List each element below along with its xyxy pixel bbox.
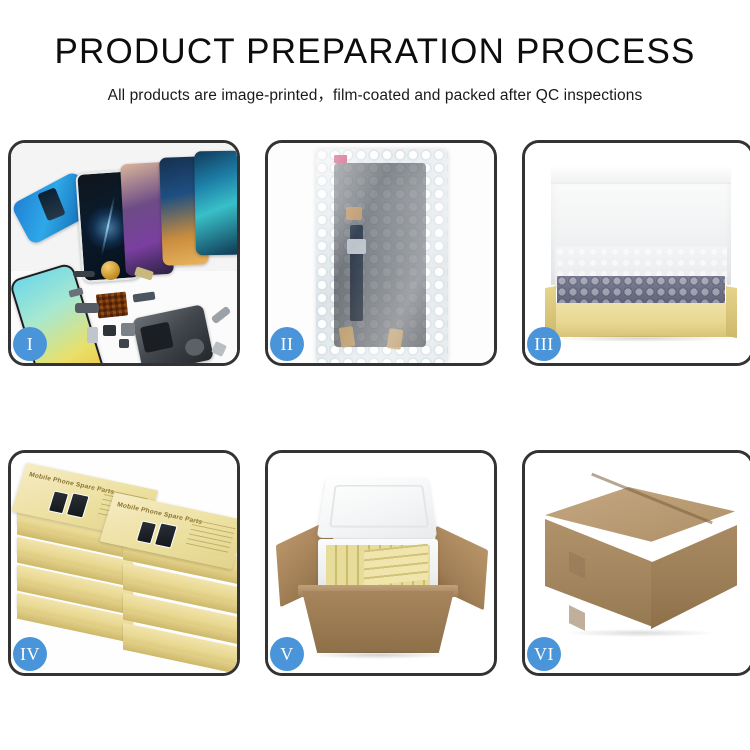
bubble-wrap-icon (316, 149, 448, 363)
step-image-1 (11, 143, 237, 363)
step-badge-1: I (13, 327, 47, 361)
part-icon (103, 325, 116, 336)
part-icon (73, 271, 95, 277)
step-panel-3[interactable]: III (522, 140, 750, 366)
step-image-5 (268, 453, 494, 673)
drop-shadow (312, 651, 444, 659)
step-badge-2: II (270, 327, 304, 361)
page-subtitle: All products are image-printed，film-coat… (0, 83, 750, 105)
step-image-3 (525, 143, 750, 363)
chip-grid-icon (96, 291, 128, 318)
step-badge-5: V (270, 637, 304, 671)
carton-tape-icon (569, 605, 585, 631)
step-badge-3: III (527, 327, 561, 361)
teal-phone-icon (194, 151, 237, 256)
step-panel-1[interactable]: I (8, 140, 240, 366)
packed-boxes-icon (364, 544, 428, 587)
part-icon (121, 323, 135, 336)
part-icon (87, 327, 98, 343)
phone-back-housing-icon (132, 304, 214, 363)
carton-right-face-icon (651, 525, 737, 629)
step-panel-4[interactable]: Mobile Phone Spare Parts Mobile Phone Sp… (8, 450, 240, 676)
part-icon (211, 306, 232, 325)
step-badge-4: IV (13, 637, 47, 671)
carton-body-icon (302, 591, 454, 653)
process-steps-grid: I II III (8, 140, 743, 676)
spec-text-lines (185, 519, 236, 556)
drop-shadow (551, 335, 731, 342)
part-icon (75, 303, 99, 313)
step-panel-5[interactable]: V (265, 450, 497, 676)
step-badge-6: VI (527, 637, 561, 671)
kraft-box-tray-icon (549, 303, 733, 337)
page-header: PRODUCT PREPARATION PROCESS All products… (0, 0, 750, 105)
part-icon (211, 341, 227, 357)
phone-print-icon (154, 522, 178, 548)
part-icon (119, 339, 129, 348)
page-title: PRODUCT PREPARATION PROCESS (0, 34, 750, 69)
wrap-gloss-overlay (316, 149, 448, 363)
step-image-4: Mobile Phone Spare Parts Mobile Phone Sp… (11, 453, 237, 673)
phone-print-icon (66, 492, 90, 518)
camera-module-icon (101, 261, 120, 280)
part-icon (133, 292, 156, 303)
drop-shadow (565, 629, 715, 637)
step-panel-2[interactable]: II (265, 140, 497, 366)
foam-lid-icon (317, 477, 438, 538)
step-image-2 (268, 143, 494, 363)
step-panel-6[interactable]: VI (522, 450, 750, 676)
box-stack-icon: Mobile Phone Spare Parts Mobile Phone Sp… (11, 453, 237, 673)
step-image-6 (525, 453, 750, 673)
